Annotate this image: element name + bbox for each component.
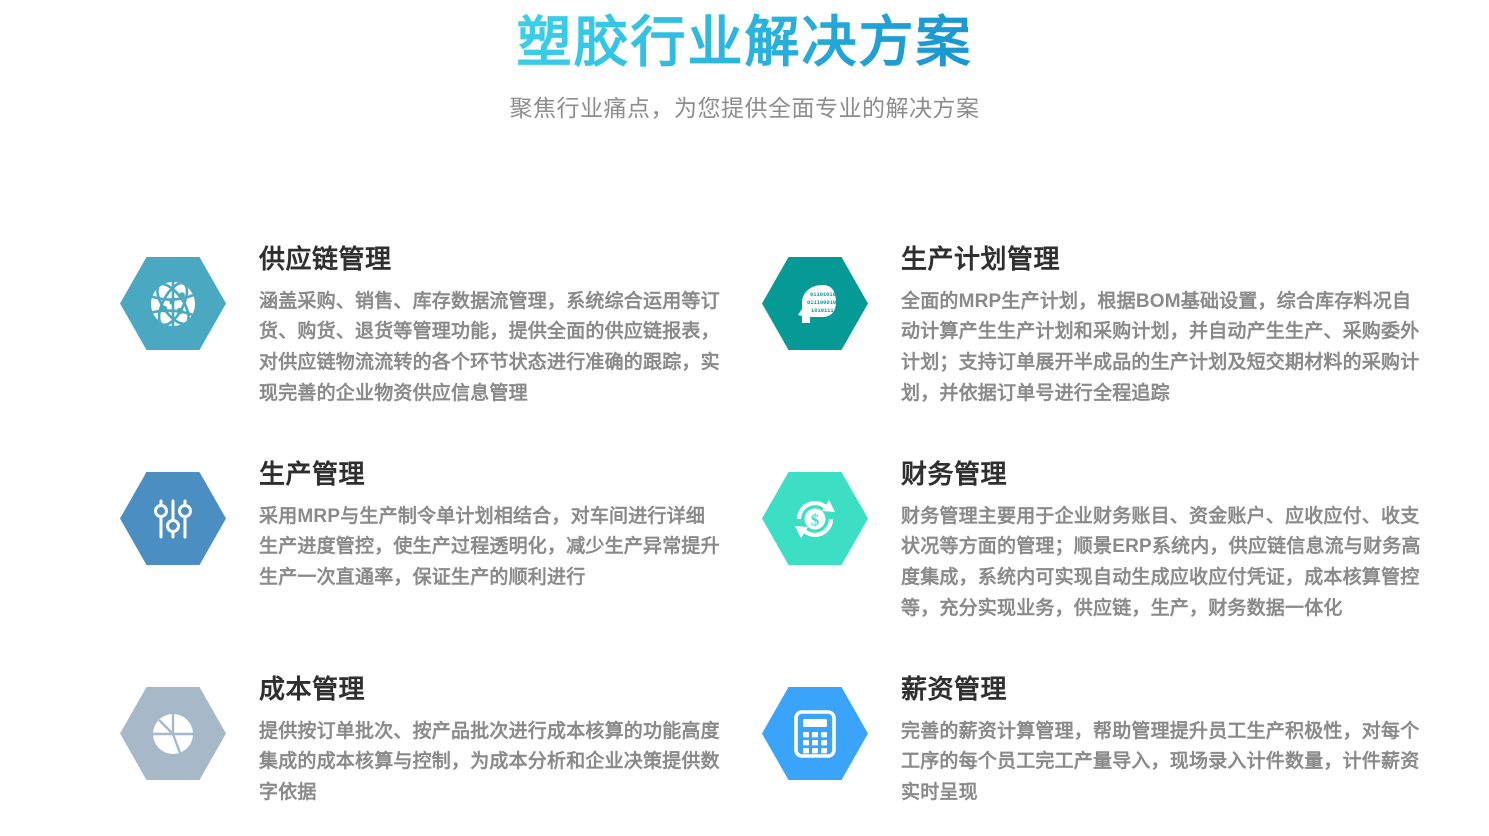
feature-grid: 供应链管理 涵盖采购、销售、库存数据流管理，系统综合运用等订货、购货、退货等管理…	[0, 243, 1489, 833]
hexagon-shape: $	[762, 472, 868, 565]
feature-text: 薪资管理 完善的薪资计算管理，帮助管理提升员工生产积极性，对每个工序的每个员工完…	[868, 673, 1430, 809]
binary-line-1: 01101010	[810, 292, 836, 298]
binary-line-2: 011100010	[807, 300, 836, 306]
hexagon-shape	[120, 472, 226, 565]
page-title: 塑胶行业解决方案	[516, 6, 972, 79]
hexagon-shape: 01101010 011100010 1010111	[762, 257, 868, 350]
hexagon-shape	[120, 687, 226, 780]
sliders-icon	[149, 495, 197, 543]
feature-text: 生产计划管理 全面的MRP生产计划，根据BOM基础设置，综合库存料况自动计算产生…	[868, 243, 1430, 410]
feature-icon-badge	[120, 687, 226, 780]
feature-description: 完善的薪资计算管理，帮助管理提升员工生产积极性，对每个工序的每个员工完工产量导入…	[901, 717, 1430, 809]
dollar-glyph: $	[811, 510, 820, 529]
hexagon-shape	[762, 687, 868, 780]
pie-chart-icon	[148, 709, 198, 759]
feature-title: 薪资管理	[901, 673, 1430, 706]
feature-description: 全面的MRP生产计划，根据BOM基础设置，综合库存料况自动计算产生生产计划和采购…	[901, 287, 1430, 410]
calculator-icon	[792, 709, 838, 759]
solution-page: 塑胶行业解决方案 聚焦行业痛点，为您提供全面专业的解决方案	[0, 0, 1489, 836]
page-header: 塑胶行业解决方案 聚焦行业痛点，为您提供全面专业的解决方案	[0, 0, 1489, 124]
page-subtitle: 聚焦行业痛点，为您提供全面专业的解决方案	[0, 92, 1489, 124]
feature-icon-badge: $	[762, 472, 868, 565]
feature-icon-badge: 01101010 011100010 1010111	[762, 257, 868, 350]
feature-description: 财务管理主要用于企业财务账目、资金账户、应收应付、收支状况等方面的管理；顺景ER…	[901, 502, 1430, 625]
brain-binary-head-icon: 01101010 011100010 1010111	[790, 279, 840, 329]
money-refresh-icon: $	[790, 494, 840, 544]
feature-icon-badge	[120, 472, 226, 565]
globe-network-icon	[147, 278, 199, 330]
hexagon-shape	[120, 257, 226, 350]
feature-title: 财务管理	[901, 458, 1430, 491]
feature-title: 生产计划管理	[901, 243, 1430, 276]
feature-text: 财务管理 财务管理主要用于企业财务账目、资金账户、应收应付、收支状况等方面的管理…	[868, 458, 1430, 625]
feature-icon-badge	[762, 687, 868, 780]
binary-line-3: 1010111	[811, 308, 834, 314]
feature-icon-badge	[120, 257, 226, 350]
